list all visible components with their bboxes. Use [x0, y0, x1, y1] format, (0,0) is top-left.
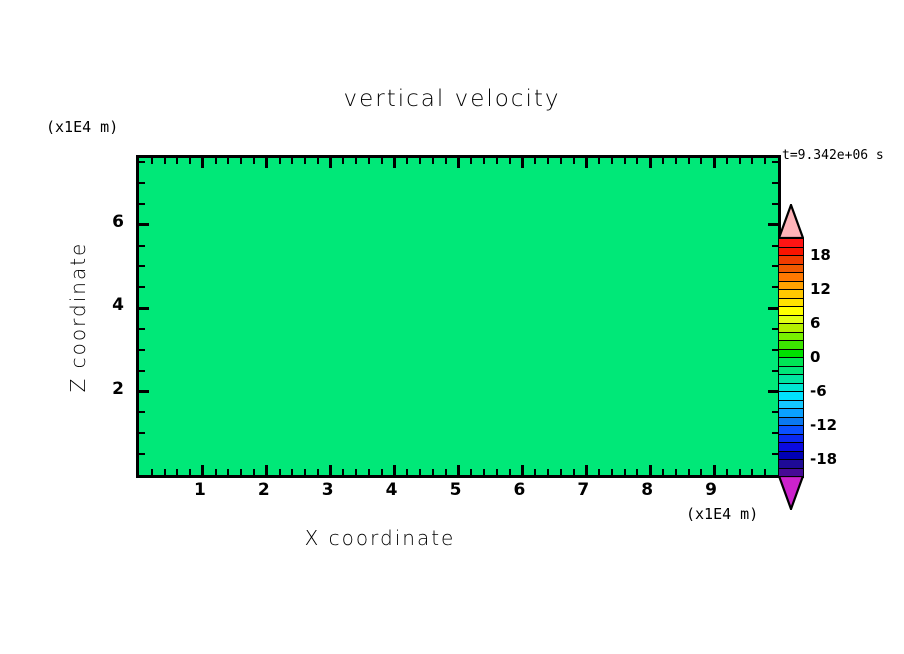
x-axis-top-major-tick: [649, 158, 652, 168]
page-title: vertical velocity: [0, 86, 904, 112]
y-axis-major-tick: [139, 390, 149, 393]
y-tick-label: 2: [96, 379, 124, 399]
x-axis-top-major-tick: [265, 158, 268, 168]
x-axis-top-minor-tick: [700, 158, 702, 164]
x-axis-top-major-tick: [521, 158, 524, 168]
y-axis-minor-tick: [139, 182, 145, 184]
x-tick-label: 6: [513, 480, 525, 500]
x-axis-minor-tick: [176, 469, 178, 475]
x-axis-top-minor-tick: [688, 158, 690, 164]
x-axis-top-minor-tick: [675, 158, 677, 164]
x-axis-top-minor-tick: [662, 158, 664, 164]
y-axis-minor-tick: [139, 245, 145, 247]
y-axis-minor-tick: [139, 328, 145, 330]
x-axis-top-major-tick: [329, 158, 332, 168]
x-axis-top-minor-tick: [496, 158, 498, 164]
colorbar: 181260-6-12-18: [778, 204, 804, 510]
x-tick-label: 5: [450, 480, 462, 500]
x-axis-minor-tick: [432, 469, 434, 475]
x-axis-minor-tick: [662, 469, 664, 475]
x-axis-top-minor-tick: [534, 158, 536, 164]
x-axis-top-minor-tick: [189, 158, 191, 164]
x-axis-top-minor-tick: [164, 158, 166, 164]
x-axis-minor-tick: [227, 469, 229, 475]
x-axis-minor-tick: [445, 469, 447, 475]
y-axis-right-major-tick: [768, 223, 778, 226]
x-axis-major-tick: [201, 465, 204, 475]
x-axis-top-minor-tick: [355, 158, 357, 164]
x-axis-top-minor-tick: [215, 158, 217, 164]
y-axis-minor-tick: [139, 411, 145, 413]
x-axis-minor-tick: [636, 469, 638, 475]
x-axis-minor-tick: [764, 469, 766, 475]
colorbar-tick-label: 12: [810, 280, 831, 298]
y-axis-minor-tick: [139, 370, 145, 372]
y-axis-right-minor-tick: [772, 182, 778, 184]
x-axis-top-minor-tick: [368, 158, 370, 164]
x-axis-minor-tick: [611, 469, 613, 475]
x-axis-major-tick: [649, 465, 652, 475]
x-axis-minor-tick: [189, 469, 191, 475]
x-axis-minor-tick: [573, 469, 575, 475]
x-axis-minor-tick: [496, 469, 498, 475]
x-axis-minor-tick: [675, 469, 677, 475]
x-axis-minor-tick: [547, 469, 549, 475]
x-axis-top-minor-tick: [381, 158, 383, 164]
x-axis-top-minor-tick: [406, 158, 408, 164]
x-axis-top-minor-tick: [253, 158, 255, 164]
x-axis-top-minor-tick: [573, 158, 575, 164]
x-axis-top-major-tick: [713, 158, 716, 168]
colorbar-over-arrow: [778, 204, 804, 238]
y-axis-minor-tick: [139, 349, 145, 351]
x-axis-top-minor-tick: [176, 158, 178, 164]
x-axis-top-minor-tick: [764, 158, 766, 164]
x-axis-top-major-tick: [457, 158, 460, 168]
x-axis-top-minor-tick: [636, 158, 638, 164]
vertical-velocity-field: [139, 158, 778, 475]
x-axis-minor-tick: [726, 469, 728, 475]
x-axis-minor-tick: [164, 469, 166, 475]
y-axis-right-minor-tick: [772, 161, 778, 163]
x-axis-minor-tick: [406, 469, 408, 475]
x-axis-top-minor-tick: [624, 158, 626, 164]
y-tick-label: 4: [96, 295, 124, 315]
x-axis-minor-tick: [342, 469, 344, 475]
y-axis-major-tick: [139, 223, 149, 226]
x-axis-top-minor-tick: [611, 158, 613, 164]
colorbar-tick-label: 0: [810, 348, 820, 366]
x-tick-label: 4: [386, 480, 398, 500]
colorbar-tick-label: 6: [810, 314, 820, 332]
x-axis-minor-tick: [291, 469, 293, 475]
y-axis-minor-tick: [139, 265, 145, 267]
x-axis-top-minor-tick: [304, 158, 306, 164]
x-axis-unit-label: (x1E4 m): [686, 505, 758, 523]
x-axis-top-major-tick: [393, 158, 396, 168]
x-tick-label: 1: [194, 480, 206, 500]
simulation-time-annotation: t=9.342e+06 s: [782, 148, 884, 163]
x-axis-minor-tick: [151, 469, 153, 475]
y-axis-minor-tick: [139, 453, 145, 455]
x-axis-top-minor-tick: [227, 158, 229, 164]
y-axis-unit-label: (x1E4 m): [46, 118, 118, 136]
x-axis-major-tick: [393, 465, 396, 475]
x-axis-minor-tick: [688, 469, 690, 475]
x-axis-minor-tick: [700, 469, 702, 475]
x-axis-minor-tick: [483, 469, 485, 475]
x-axis-top-minor-tick: [445, 158, 447, 164]
x-tick-label: 7: [577, 480, 589, 500]
x-axis-minor-tick: [355, 469, 357, 475]
x-axis-minor-tick: [215, 469, 217, 475]
x-axis-title: X coordinate: [0, 526, 760, 550]
x-axis-top-minor-tick: [751, 158, 753, 164]
x-axis-minor-tick: [509, 469, 511, 475]
x-axis-top-minor-tick: [291, 158, 293, 164]
y-axis-minor-tick: [139, 203, 145, 205]
x-axis-top-minor-tick: [726, 158, 728, 164]
colorbar-under-arrow: [778, 476, 804, 510]
y-axis-right-major-tick: [768, 390, 778, 393]
y-axis-right-major-tick: [768, 307, 778, 310]
x-axis-top-minor-tick: [509, 158, 511, 164]
x-axis-minor-tick: [560, 469, 562, 475]
x-axis-major-tick: [457, 465, 460, 475]
x-axis-minor-tick: [598, 469, 600, 475]
x-axis-top-minor-tick: [598, 158, 600, 164]
colorbar-tick-label: -12: [810, 416, 837, 434]
x-axis-major-tick: [329, 465, 332, 475]
x-axis-minor-tick: [253, 469, 255, 475]
x-axis-top-minor-tick: [470, 158, 472, 164]
x-axis-minor-tick: [419, 469, 421, 475]
x-axis-top-minor-tick: [560, 158, 562, 164]
x-axis-top-minor-tick: [240, 158, 242, 164]
x-axis-minor-tick: [304, 469, 306, 475]
y-axis-minor-tick: [139, 286, 145, 288]
x-tick-label: 2: [258, 480, 270, 500]
y-axis-major-tick: [139, 307, 149, 310]
x-axis-major-tick: [265, 465, 268, 475]
y-tick-label: 6: [96, 212, 124, 232]
x-axis-top-minor-tick: [483, 158, 485, 164]
x-axis-minor-tick: [368, 469, 370, 475]
x-axis-top-major-tick: [201, 158, 204, 168]
x-axis-minor-tick: [317, 469, 319, 475]
x-axis-major-tick: [521, 465, 524, 475]
x-axis-minor-tick: [624, 469, 626, 475]
contour-plot-area: [136, 155, 781, 478]
colorbar-tick-label: 18: [810, 246, 831, 264]
y-axis-title: Z coordinate: [66, 217, 90, 417]
x-axis-minor-tick: [470, 469, 472, 475]
x-axis-top-major-tick: [585, 158, 588, 168]
x-axis-minor-tick: [279, 469, 281, 475]
x-axis-major-tick: [585, 465, 588, 475]
x-axis-minor-tick: [381, 469, 383, 475]
x-tick-label: 3: [322, 480, 334, 500]
x-axis-minor-tick: [534, 469, 536, 475]
x-axis-minor-tick: [751, 469, 753, 475]
y-axis-minor-tick: [139, 432, 145, 434]
x-axis-top-minor-tick: [279, 158, 281, 164]
colorbar-tick-label: -18: [810, 450, 837, 468]
x-axis-top-minor-tick: [342, 158, 344, 164]
colorbar-tick-label: -6: [810, 382, 827, 400]
x-tick-label: 8: [641, 480, 653, 500]
x-axis-minor-tick: [240, 469, 242, 475]
x-axis-top-minor-tick: [547, 158, 549, 164]
x-tick-label: 9: [705, 480, 717, 500]
x-axis-minor-tick: [739, 469, 741, 475]
x-axis-top-minor-tick: [317, 158, 319, 164]
x-axis-top-minor-tick: [419, 158, 421, 164]
x-axis-major-tick: [713, 465, 716, 475]
x-axis-top-minor-tick: [432, 158, 434, 164]
x-axis-top-minor-tick: [739, 158, 741, 164]
y-axis-minor-tick: [139, 161, 145, 163]
x-axis-top-minor-tick: [151, 158, 153, 164]
